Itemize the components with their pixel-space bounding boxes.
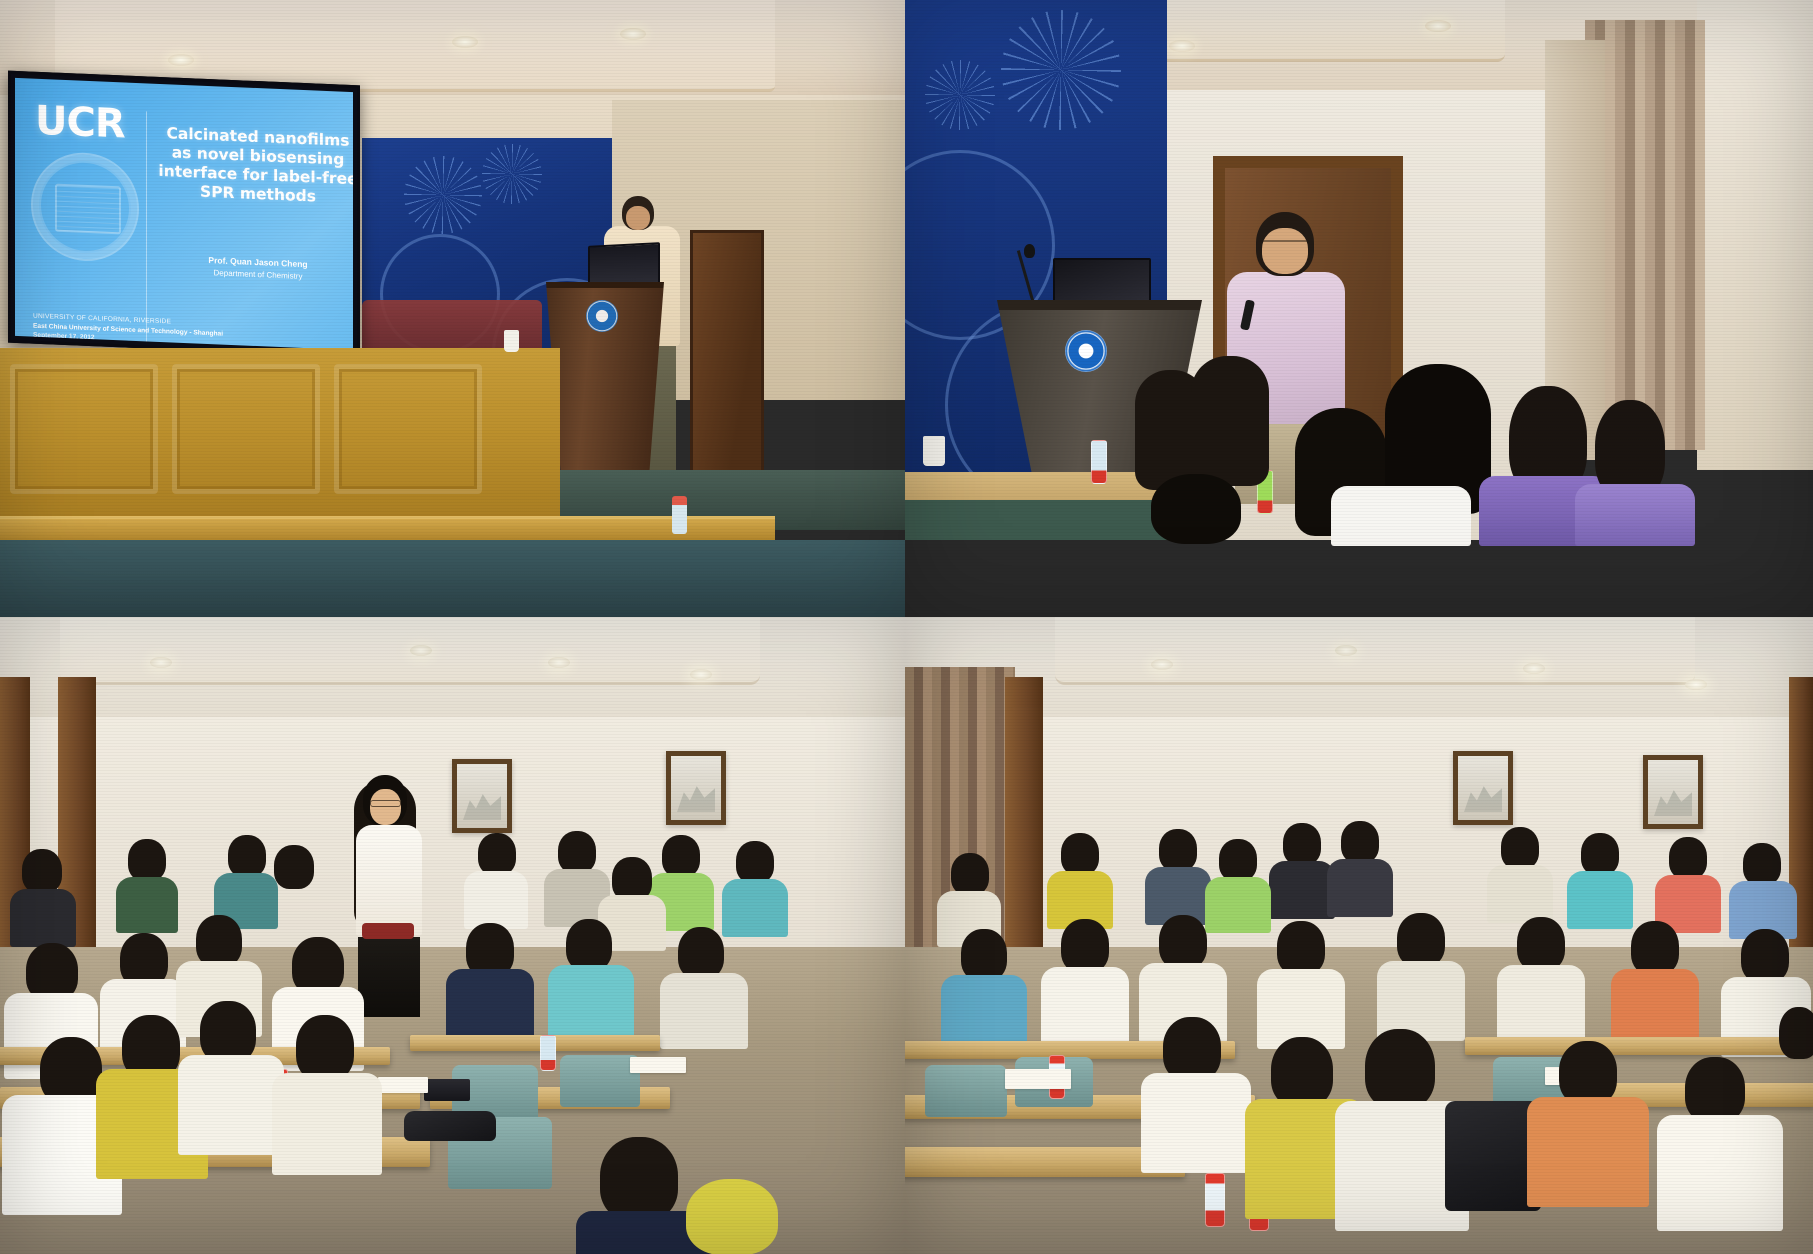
audience-head [1061,833,1099,875]
tea-cup [504,330,519,352]
podium-emblem-icon [586,300,618,332]
audience-torso [1327,859,1393,917]
framed-landscape-painting [1643,755,1703,829]
audience-head [662,835,700,877]
speaker-face [1262,228,1308,274]
audience-head [196,915,242,967]
ceiling-light-icon [150,657,172,668]
audience-head [1341,821,1379,863]
audience-head [1277,921,1325,975]
notebook-paper [1005,1069,1071,1089]
wooden-door [690,230,764,490]
audience-head [1159,915,1207,969]
photo-audience-with-standing-questioner: Seated audience in a classroom; a young … [0,617,905,1254]
audience-head [1283,823,1321,865]
audience-head [22,849,62,893]
ceiling-light-icon [548,657,570,668]
presenter-laptop [588,242,660,288]
slide-title: Calcinated nanofilms as novel biosensing… [155,124,353,208]
head-table-front [0,348,560,523]
audience-head [1061,919,1109,973]
ceiling-light-icon [168,54,194,66]
audience-torso [464,871,528,929]
ceiling-light-icon [1335,645,1357,656]
audience-torso [548,965,634,1045]
ucr-logo: UCR [35,101,125,145]
audience-torso [1269,861,1335,919]
ceiling-light-icon [690,669,712,680]
photo-collage: UCR Calcinated nanofilms as novel biosen… [0,0,1813,1254]
slide-footer: UNIVERSITY OF CALIFORNIA, RIVERSIDE East… [33,312,353,350]
audience-head [736,841,774,883]
audience-torso [1575,484,1695,546]
audience-torso [1487,865,1553,923]
audience-head [1581,833,1619,875]
framed-landscape-painting [452,759,512,833]
university-seal-icon [31,151,139,264]
audience-head [296,1015,354,1081]
classroom-chair [925,1065,1007,1117]
audience-head [1163,1017,1221,1081]
framed-landscape-painting [1453,751,1513,825]
presentation-slide: UCR Calcinated nanofilms as novel biosen… [15,78,353,350]
notebook-paper [630,1057,686,1073]
firework-graphic-icon [404,156,482,234]
wall-column [1005,677,1043,977]
audience-head [1559,1041,1617,1105]
audience-head [1669,837,1707,879]
laptop [424,1079,470,1101]
photo-speaker-at-podium-with-projected-slide: UCR Calcinated nanofilms as novel biosen… [0,0,905,617]
student-desk [1465,1037,1813,1055]
audience-torso [1567,871,1633,929]
audience-head [478,833,516,875]
water-bottle [540,1035,556,1071]
audience-head [1271,1037,1333,1107]
slide-author-block: Prof. Quan Jason Cheng Department of Che… [155,252,353,285]
water-bottle [1205,1173,1225,1227]
firework-graphic-icon [1001,10,1121,130]
firework-graphic-icon [925,60,995,130]
speaker-glasses-icon [1263,240,1307,248]
water-bottle [1091,440,1107,484]
audience-head [1151,474,1241,544]
audience-torso [1205,877,1271,933]
audience-torso [272,1073,382,1175]
audience-head [1397,913,1445,967]
slide-divider [146,111,147,341]
ceiling-light-icon [1523,663,1545,674]
audience-torso [1041,967,1129,1047]
ceiling-light-icon [1169,40,1195,52]
audience-head [1365,1029,1435,1109]
photo-audience-seated-listening: Wide view of the seated audience listeni… [905,617,1813,1254]
ceiling-light-icon [1151,659,1173,670]
audience-torso [660,973,748,1049]
audience-head [1685,1057,1745,1123]
audience-head [1631,921,1679,975]
audience-head [274,845,314,889]
audience-head [951,853,989,895]
photo-speaker-with-microphone-and-audience: Speaker in a lavender shirt holding a ha… [905,0,1813,617]
framed-landscape-painting [666,751,726,825]
audience-head [686,1179,778,1254]
audience-head [600,1137,678,1221]
audience-torso [178,1055,284,1155]
standing-questioner-torso [356,825,422,935]
audience-head [1191,356,1269,486]
projection-screen: UCR Calcinated nanofilms as novel biosen… [8,71,360,358]
audience-torso [1331,486,1471,546]
standing-questioner-belt [362,923,414,939]
audience-head [1517,917,1565,971]
floor [0,540,905,617]
notebook-paper [378,1077,428,1093]
audience-head [1159,829,1197,871]
audience-head [1501,827,1539,869]
tea-cup [923,436,945,466]
audience-head [228,835,266,877]
microphone-head-icon [1024,244,1035,258]
audience-torso [116,877,178,933]
audience-head [1743,843,1781,885]
student-desk [410,1035,660,1051]
audience-torso [722,879,788,937]
laptop-bag [404,1111,496,1141]
classroom-chair [560,1055,640,1107]
audience-head [678,927,724,979]
audience-head [200,1001,256,1063]
water-bottle [672,496,687,534]
ceiling-light-icon [620,28,646,40]
audience-head [128,839,166,881]
lectern-emblem-icon [1065,330,1107,372]
audience-head [1219,839,1257,881]
audience-torso [1497,965,1585,1045]
audience-torso [1657,1115,1783,1231]
audience-head [566,919,612,971]
ceiling-light-icon [452,36,478,48]
speaker-face [626,206,650,230]
ceiling-light-icon [1685,679,1707,690]
audience-foreground [1135,356,1813,536]
ceiling-light-icon [410,645,432,656]
audience-head [961,929,1007,981]
audience-head [558,831,596,873]
ceiling-panel [1055,617,1695,685]
audience-head [1741,929,1789,983]
audience-torso [10,889,76,947]
standing-questioner-face [370,789,401,825]
glasses-icon [370,800,401,807]
audience-torso [1527,1097,1649,1207]
audience-torso [1141,1073,1251,1173]
firework-graphic-icon [482,144,542,204]
ceiling-light-icon [1425,20,1451,32]
standing-questioner-skirt [358,937,420,1017]
audience-head [1779,1007,1813,1059]
